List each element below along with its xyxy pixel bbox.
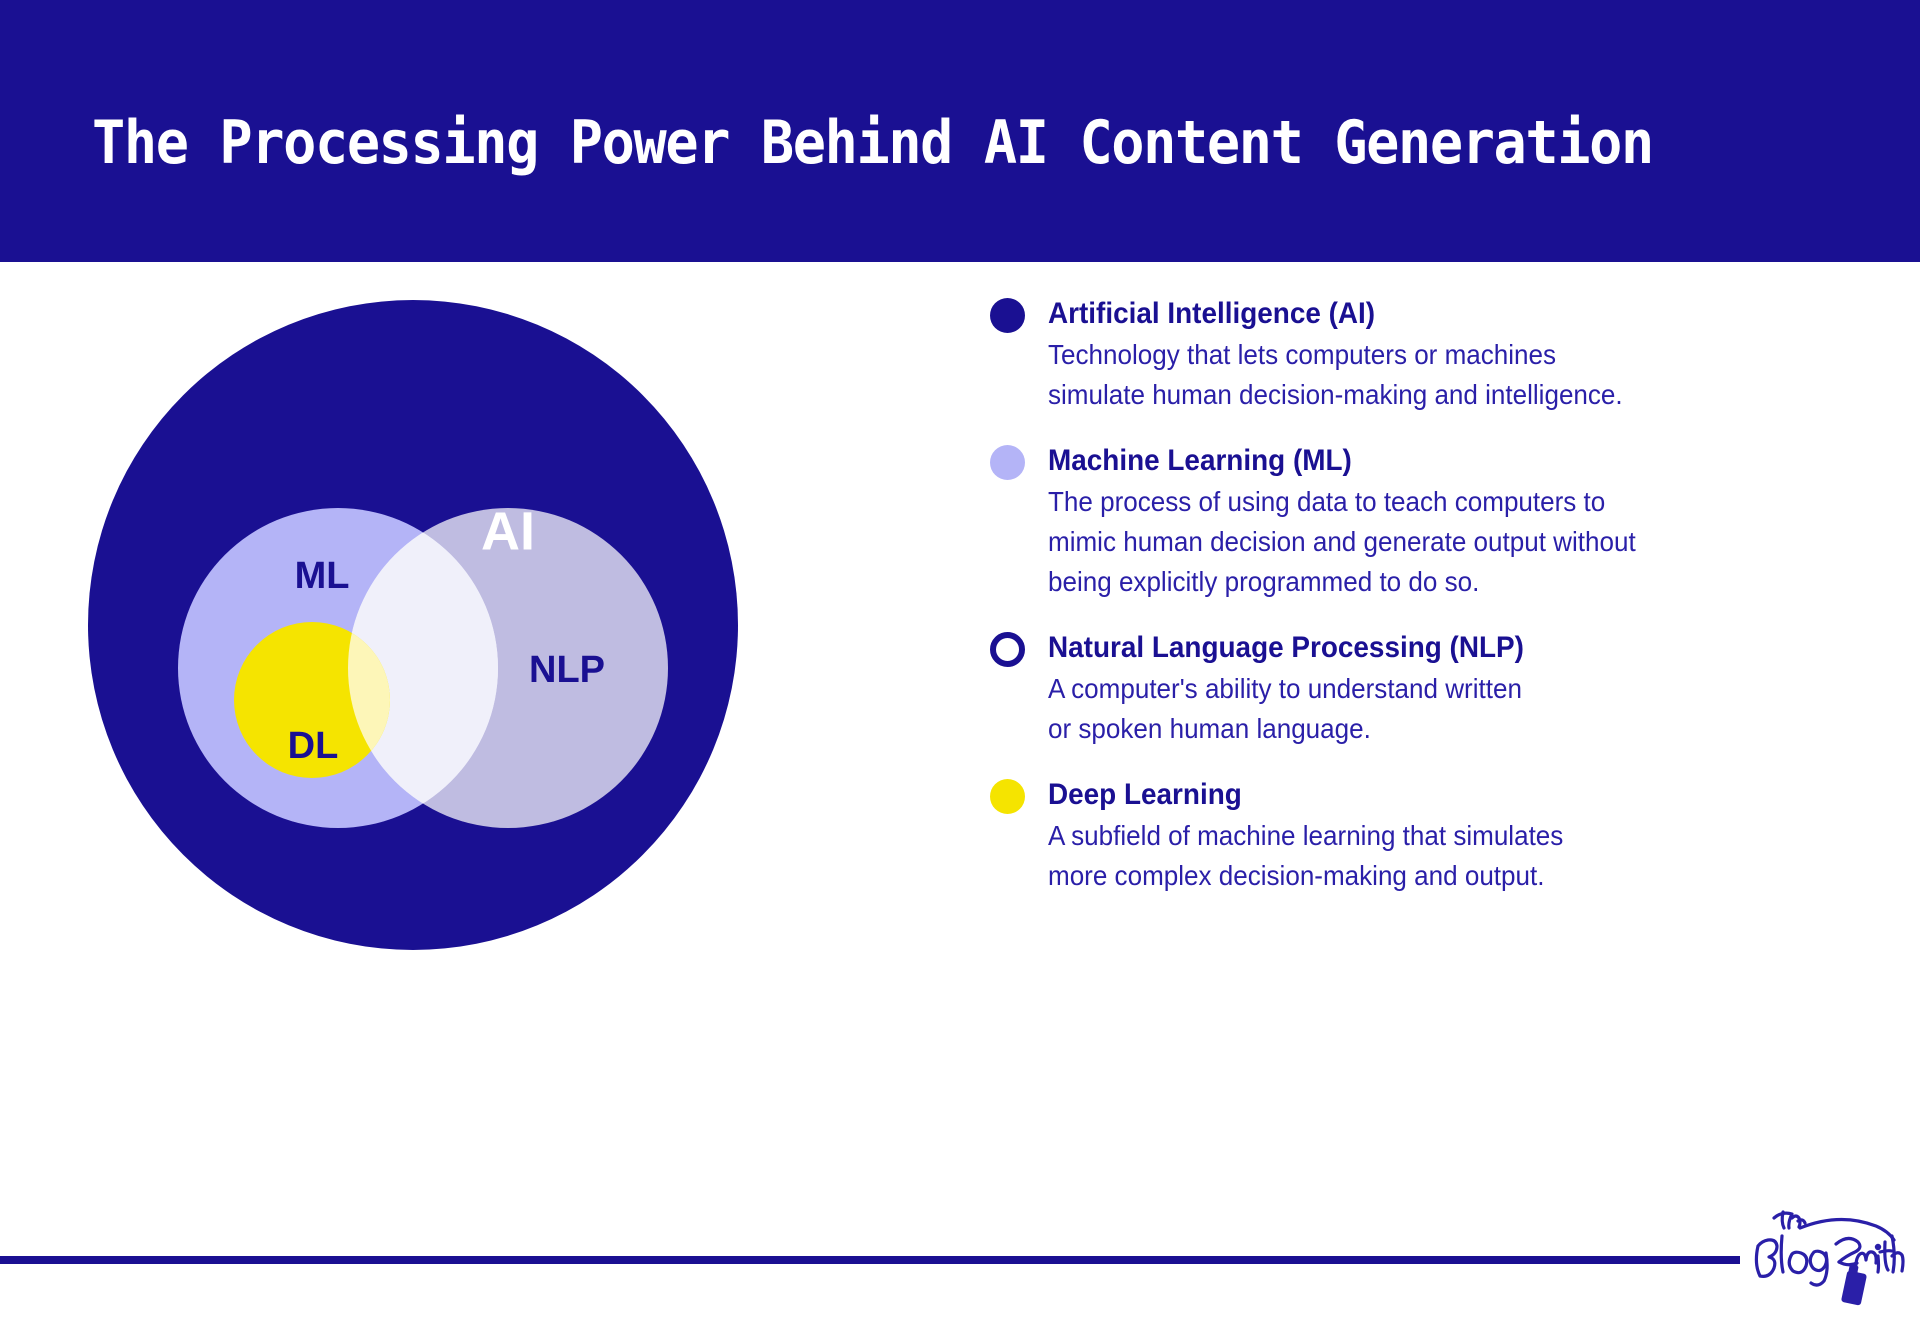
spray-can-icon	[1841, 1264, 1867, 1305]
outline-circle-navy-icon	[990, 632, 1025, 667]
filled-circle-periwinkle-icon	[990, 445, 1025, 480]
page-title: The Processing Power Behind AI Content G…	[92, 108, 1653, 178]
legend-item-ml: Machine Learning (ML) The process of usi…	[990, 443, 1690, 602]
venn-label-ml: ML	[295, 555, 350, 597]
spray-can-graffiti-logo-icon	[1740, 1198, 1910, 1308]
venn-diagram: AI ML NLP DL	[60, 285, 780, 975]
legend-item-ai: Artificial Intelligence (AI) Technology …	[990, 296, 1690, 415]
legend-description-ai: Technology that lets computers or machin…	[1048, 335, 1645, 415]
legend-description-ml: The process of using data to teach compu…	[1048, 482, 1645, 602]
legend-title-nlp: Natural Language Processing (NLP)	[1048, 630, 1524, 666]
legend-item-nlp: Natural Language Processing (NLP) A comp…	[990, 630, 1690, 749]
legend-title-ai: Artificial Intelligence (AI)	[1048, 296, 1375, 332]
legend-description-nlp: A computer's ability to understand writt…	[1048, 669, 1645, 749]
filled-circle-yellow-icon	[990, 779, 1025, 814]
legend-item-dl: Deep Learning A subfield of machine lear…	[990, 777, 1690, 896]
legend-description-dl: A subfield of machine learning that simu…	[1048, 816, 1645, 896]
legend-title-ml: Machine Learning (ML)	[1048, 443, 1352, 479]
venn-label-ai: AI	[481, 501, 535, 561]
venn-label-nlp: NLP	[529, 649, 605, 691]
legend-title-dl: Deep Learning	[1048, 777, 1242, 813]
filled-circle-navy-icon	[990, 298, 1025, 333]
footer-divider	[0, 1256, 1740, 1264]
venn-label-dl: DL	[288, 725, 339, 767]
legend: Artificial Intelligence (AI) Technology …	[990, 296, 1690, 924]
blogsmith-logo[interactable]	[1740, 1198, 1910, 1308]
